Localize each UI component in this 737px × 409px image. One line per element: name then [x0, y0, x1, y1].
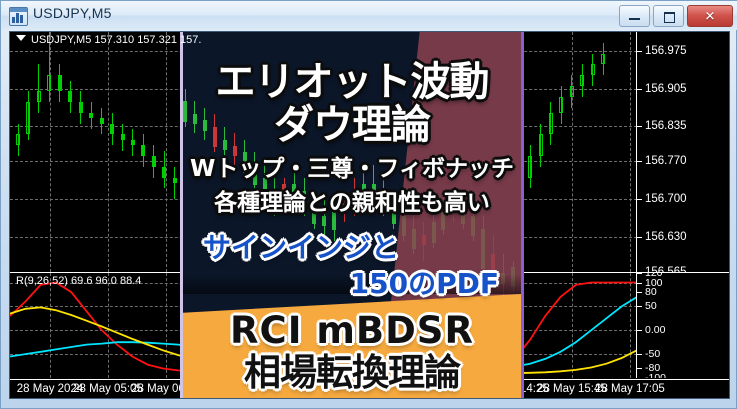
close-button[interactable]: ✕ — [687, 5, 733, 27]
indicator-axis: 12010080500.00-50-80-100 — [636, 273, 729, 378]
price-axis-label: 156.770 — [645, 155, 687, 167]
close-icon: ✕ — [705, 10, 716, 23]
window-titlebar[interactable]: USDJPY,M5 ✕ — [1, 1, 737, 30]
promo-line-2: ダウ理論 — [183, 105, 521, 145]
candlestick — [528, 145, 532, 188]
window-controls: ✕ — [619, 5, 733, 27]
price-axis-label: 156.975 — [645, 45, 687, 57]
candlestick — [131, 129, 135, 156]
window-title: USDJPY,M5 — [33, 5, 112, 21]
candlestick — [152, 145, 156, 177]
candlestick — [110, 113, 114, 145]
candlestick — [26, 91, 30, 140]
indicator-pane-header: R(9,26,52) 69.6 96.0 88.4 — [16, 275, 141, 287]
minimize-button[interactable] — [619, 5, 650, 27]
candlestick — [549, 102, 553, 145]
candlestick — [162, 151, 166, 189]
price-pane-header: USDJPY,M5 157.310 157.321 157. — [16, 34, 201, 46]
grid-line-vertical — [108, 32, 109, 272]
indicator-axis-label: 50 — [645, 300, 657, 312]
candlestick — [539, 124, 543, 167]
candlestick — [58, 64, 62, 102]
promo-line-4: 各種理論との親和性も高い — [183, 192, 521, 215]
promo-line-1: エリオット波動 — [183, 62, 521, 102]
indicator-axis-label: 0.00 — [645, 324, 665, 336]
chart-canvas[interactable]: 156.975156.905156.835156.770156.700156.6… — [10, 32, 729, 398]
price-axis-label: 156.835 — [645, 120, 687, 132]
candlestick — [559, 86, 563, 124]
grid-line-vertical — [572, 32, 573, 272]
time-axis-label: 28 May 17:05 — [595, 383, 665, 395]
price-axis-label: 156.905 — [645, 83, 687, 95]
promo-line-6: 150のPDF — [183, 270, 521, 298]
candlestick — [601, 43, 605, 75]
candlestick — [121, 124, 125, 151]
candlestick — [100, 108, 104, 135]
candlestick — [141, 134, 145, 166]
candlestick — [591, 54, 595, 86]
price-axis-label: 156.700 — [645, 193, 687, 205]
candlestick — [173, 167, 177, 199]
chart-client-area[interactable]: 156.975156.905156.835156.770156.700156.6… — [9, 31, 730, 399]
promo-line-5: サインインジと — [183, 234, 521, 262]
candlestick — [570, 75, 574, 107]
candlestick — [68, 81, 72, 113]
promo-line-3: Wトップ・三尊・フィボナッチ — [183, 158, 521, 181]
grid-line-vertical — [630, 32, 631, 272]
overlay-text-group: エリオット波動 ダウ理論 Wトップ・三尊・フィボナッチ 各種理論との親和性も高い… — [183, 32, 521, 398]
indicator-axis-label: -50 — [645, 348, 660, 360]
chart-window-icon — [9, 7, 28, 26]
price-axis: 156.975156.905156.835156.770156.700156.6… — [636, 32, 729, 272]
indicator-axis-label: 80 — [645, 286, 657, 298]
candlestick — [580, 64, 584, 96]
candlestick — [37, 64, 41, 113]
mt4-chart-window: USDJPY,M5 ✕ 156.975156.905156.835156.770… — [0, 0, 737, 409]
promo-line-8: 相場転換理論 — [183, 354, 521, 391]
candlestick — [89, 102, 93, 129]
price-axis-label: 156.630 — [645, 231, 687, 243]
candlestick — [79, 91, 83, 123]
maximize-button[interactable] — [653, 5, 684, 27]
promo-line-7: RCI mBDSR — [183, 312, 521, 349]
promo-overlay: エリオット波動 ダウ理論 Wトップ・三尊・フィボナッチ 各種理論との親和性も高い… — [180, 32, 524, 398]
candlestick — [16, 124, 20, 156]
price-header-text: USDJPY,M5 157.310 157.321 157. — [31, 34, 201, 46]
indicator-axis-label: -100 — [645, 372, 666, 378]
chevron-down-icon[interactable] — [16, 35, 26, 41]
